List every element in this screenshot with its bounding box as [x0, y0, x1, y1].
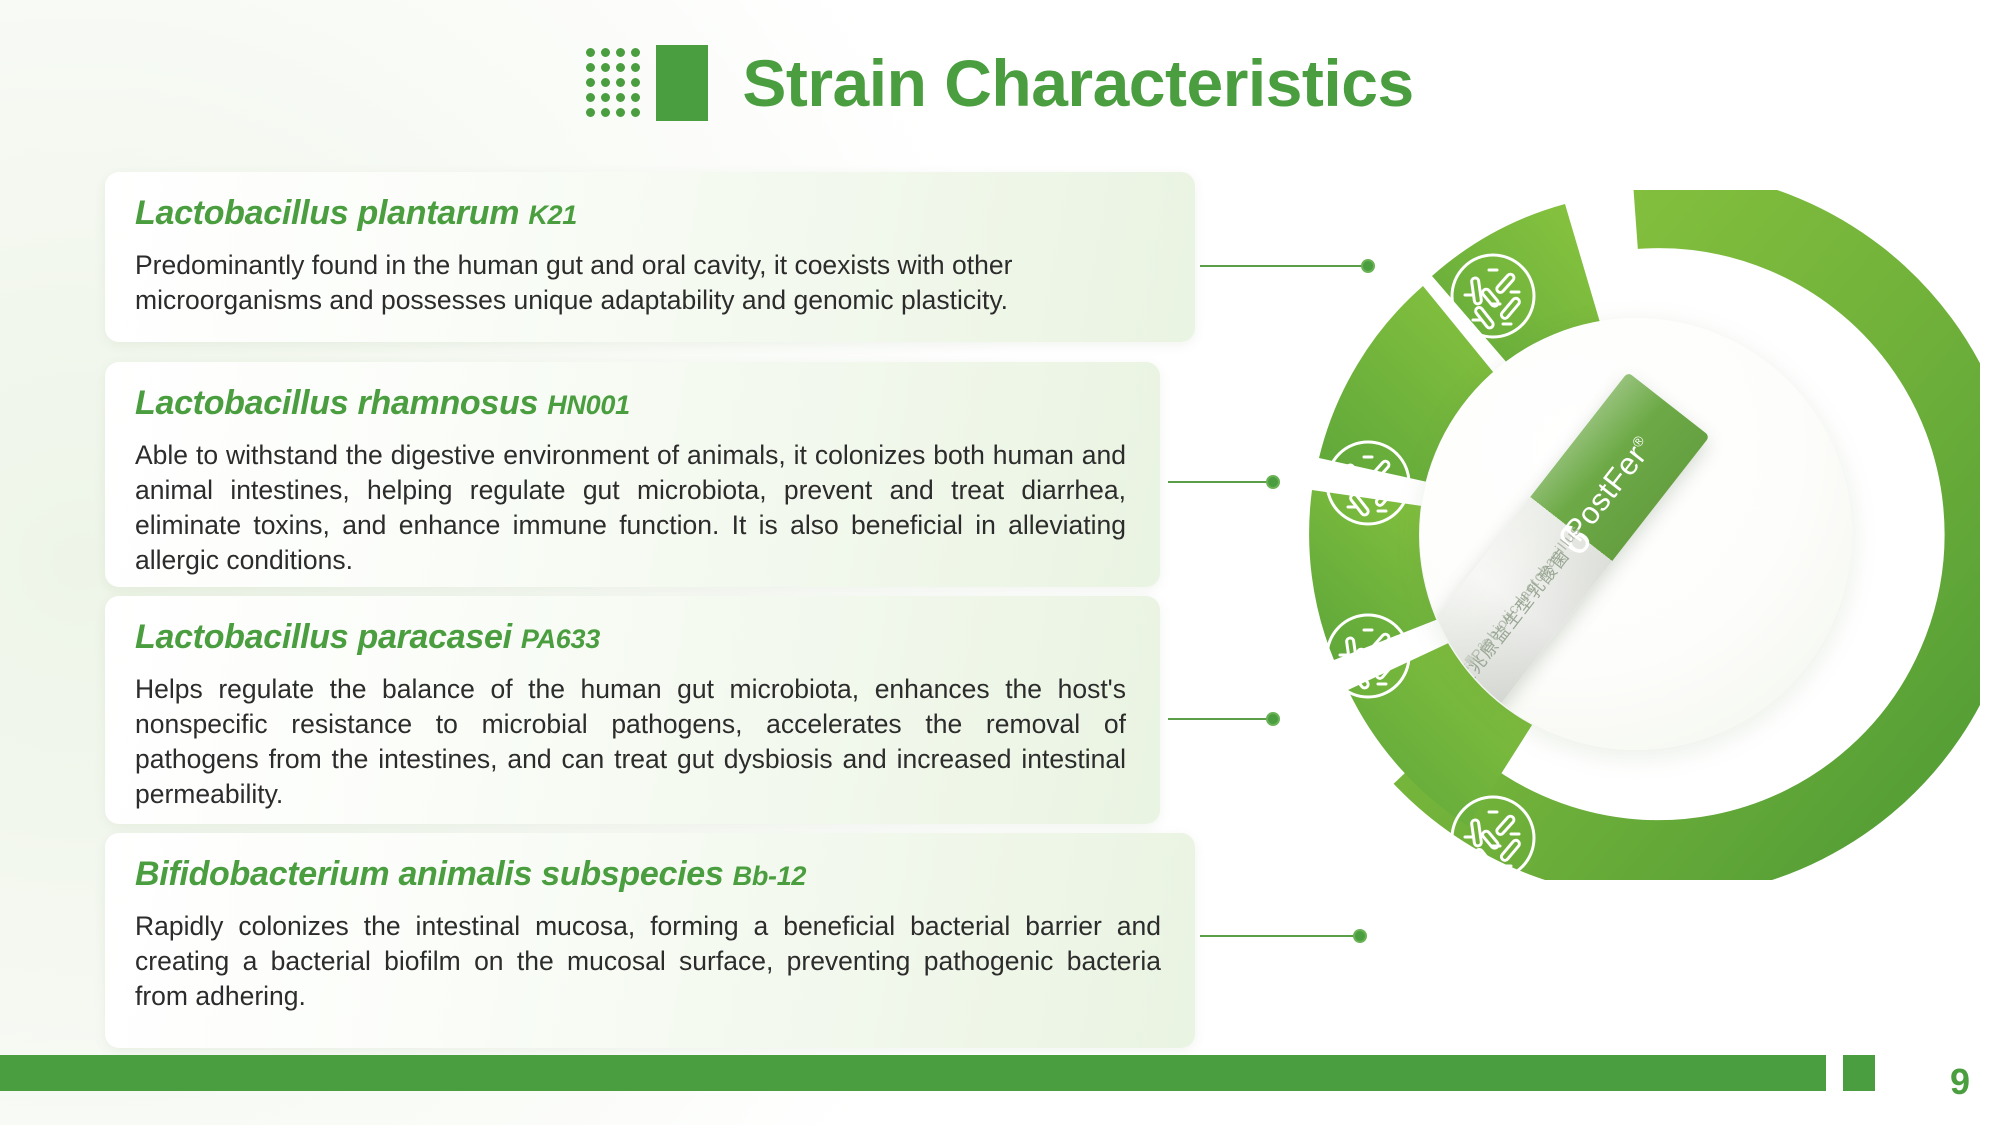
strain-title: Lactobacillus plantarum K21: [135, 196, 1161, 232]
strain-code: PA633: [521, 624, 600, 654]
slide-header: Strain Characteristics: [0, 28, 2000, 138]
connector-node-icon: [1266, 475, 1280, 489]
bacteria-icon: [1445, 790, 1541, 886]
product-sachet: PostFer® 6 Probiotic lactobacillus 益兆原益生…: [1420, 372, 1710, 720]
dot-grid-decoration: [586, 48, 646, 123]
bacteria-icon: [1320, 435, 1416, 531]
product-photo: PostFer® 6 Probiotic lactobacillus 益兆原益生…: [1420, 318, 1852, 750]
strain-description: Helps regulate the balance of the human …: [135, 672, 1126, 813]
slide-root: Strain Characteristics Lactobacillus pla…: [0, 0, 2000, 1125]
footer-bar: [0, 1055, 1826, 1091]
connector-node-icon: [1353, 929, 1367, 943]
strain-card[interactable]: Lactobacillus paracasei PA633 Helps regu…: [105, 596, 1160, 824]
strain-description: Predominantly found in the human gut and…: [135, 248, 1161, 318]
connector-node-icon: [1266, 712, 1280, 726]
strain-card[interactable]: Bifidobacterium animalis subspecies Bb-1…: [105, 833, 1195, 1048]
strain-name: Lactobacillus paracasei: [135, 618, 512, 656]
bacteria-icon: [1320, 608, 1416, 704]
strain-name: Lactobacillus rhamnosus: [135, 384, 538, 422]
header-accent-block: [656, 45, 708, 121]
strain-description: Able to withstand the digestive environm…: [135, 438, 1126, 579]
strain-card[interactable]: Lactobacillus plantarum K21 Predominantl…: [105, 172, 1195, 342]
strain-code: Bb-12: [733, 861, 807, 891]
strain-code: K21: [528, 200, 577, 230]
strain-card[interactable]: Lactobacillus rhamnosus HN001 Able to wi…: [105, 362, 1160, 587]
page-number: 9: [1950, 1064, 1970, 1100]
connector-line-2: [1168, 481, 1273, 483]
footer-accent-block: [1843, 1055, 1875, 1091]
connector-line-4: [1200, 935, 1360, 937]
product-ring-graphic: PostFer® 6 Probiotic lactobacillus 益兆原益生…: [1290, 190, 1980, 880]
strain-title: Lactobacillus paracasei PA633: [135, 620, 1126, 656]
strain-name: Bifidobacterium animalis subspecies: [135, 855, 723, 893]
page-title: Strain Characteristics: [742, 50, 1413, 116]
strain-name: Lactobacillus plantarum: [135, 194, 519, 232]
strain-code: HN001: [547, 390, 630, 420]
strain-description: Rapidly colonizes the intestinal mucosa,…: [135, 909, 1161, 1015]
connector-line-3: [1168, 718, 1273, 720]
bacteria-icon: [1445, 248, 1541, 344]
strain-title: Bifidobacterium animalis subspecies Bb-1…: [135, 857, 1161, 893]
strain-title: Lactobacillus rhamnosus HN001: [135, 386, 1126, 422]
